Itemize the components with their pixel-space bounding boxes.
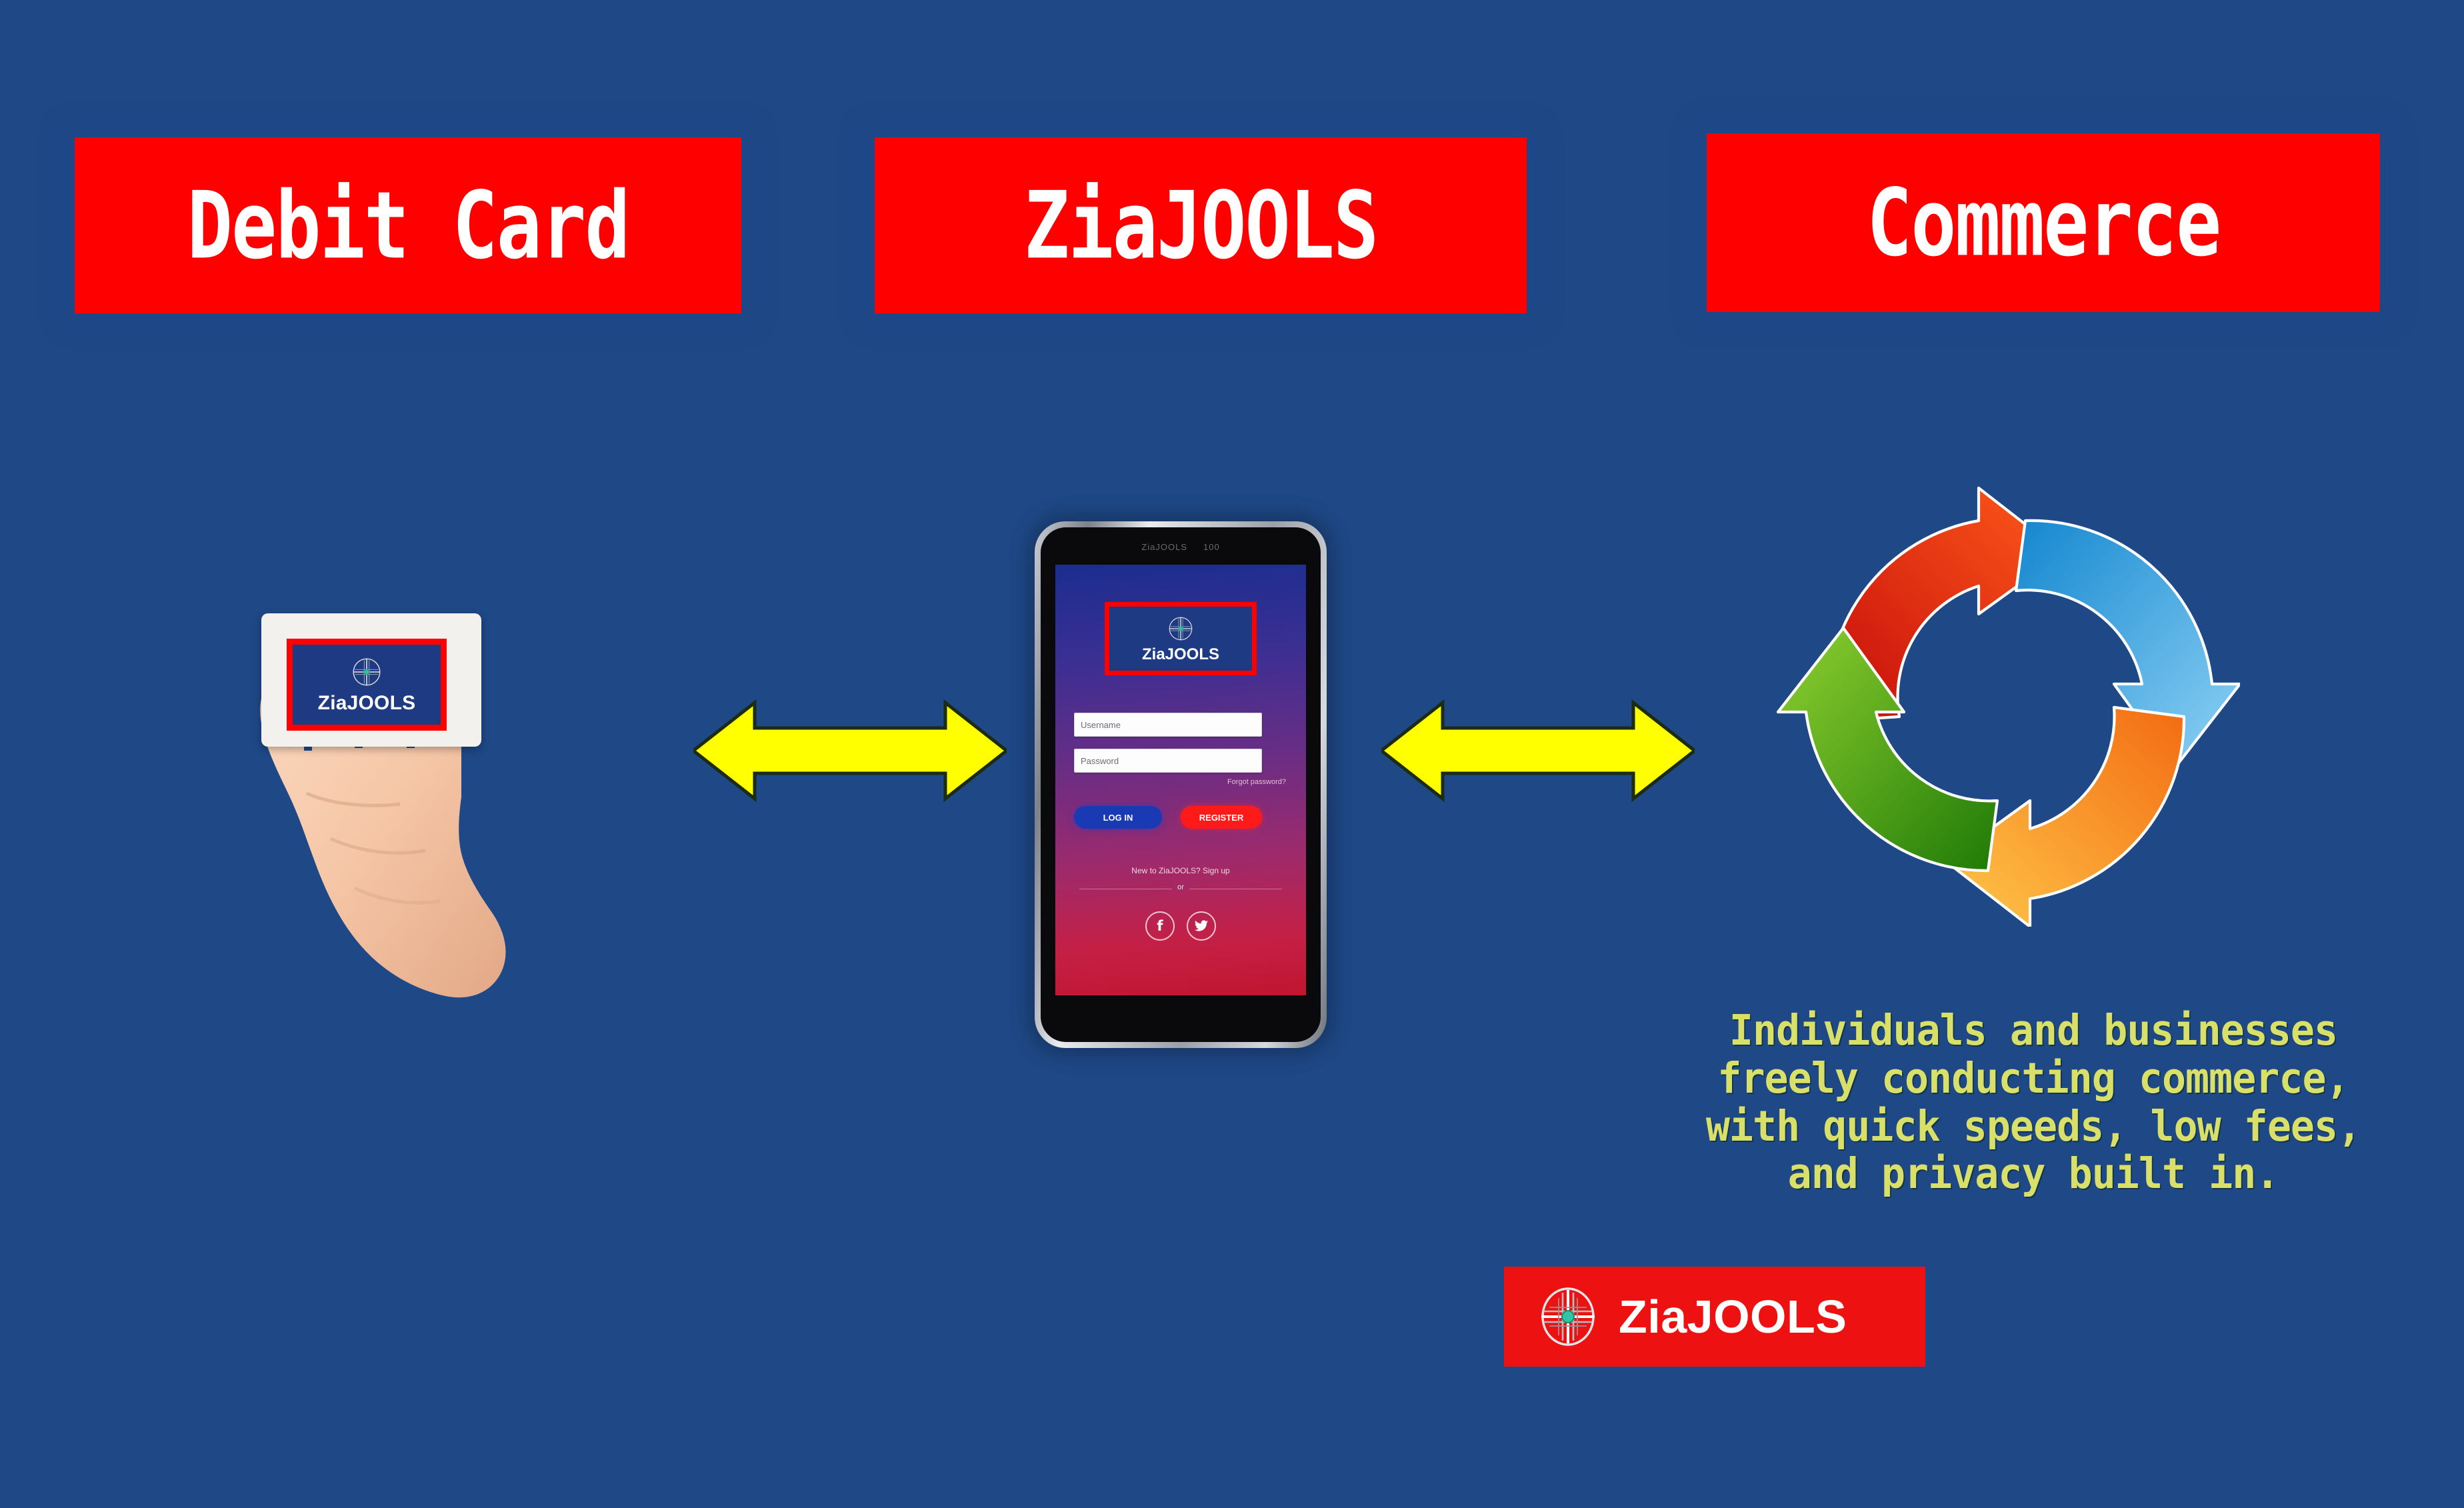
hand-holding-card-illustration: ZiaJOOLS (200, 573, 553, 1013)
banner-ziajools: ZiaJOOLS (875, 137, 1527, 313)
arrow-app-to-commerce (1381, 693, 1695, 808)
banner-debit-card: Debit Card (75, 137, 741, 313)
twitter-bird-glyph (1194, 919, 1209, 933)
commerce-cycle-diagram (1773, 460, 2240, 927)
app-brand-label: ZiaJOOLS (1142, 645, 1219, 664)
smartphone-mockup: ZiaJOOLS 100 (1035, 521, 1327, 1048)
commerce-caption: Individuals and businesses freely conduc… (1680, 1007, 2387, 1198)
arrow-card-to-app (693, 693, 1007, 808)
banner-debit-card-label: Debit Card (187, 179, 629, 271)
password-field-value: Password (1081, 756, 1119, 766)
username-field-value: Username (1081, 720, 1121, 730)
facebook-icon[interactable]: f (1145, 911, 1175, 941)
zia-sun-cross-icon (349, 655, 384, 689)
facebook-glyph: f (1157, 918, 1163, 934)
forgot-password-link[interactable]: Forgot password? (1227, 778, 1286, 786)
status-carrier: ZiaJOOLS (1141, 542, 1187, 552)
log-in-button[interactable]: LOG IN (1074, 806, 1162, 829)
username-field[interactable]: Username (1074, 713, 1262, 737)
app-logo-box: ZiaJOOLS (1105, 602, 1257, 675)
social-login-row: f (1055, 911, 1306, 941)
or-label: or (1172, 883, 1189, 891)
phone-body: ZiaJOOLS 100 (1041, 527, 1321, 1042)
ziajools-brand-badge: ZiaJOOLS (1504, 1267, 1925, 1367)
banner-commerce: Commerce (1707, 133, 2380, 312)
diagram-canvas: Debit Card ZiaJOOLS Commerce (0, 0, 2464, 1508)
banner-commerce-label: Commerce (1867, 176, 2220, 269)
twitter-icon[interactable] (1187, 911, 1216, 941)
banner-ziajools-label: ZiaJOOLS (1024, 179, 1377, 271)
app-login-screen: ZiaJOOLS Username Password Forgot passwo… (1055, 565, 1306, 995)
phone-status-bar: ZiaJOOLS 100 (1041, 537, 1321, 557)
caption-line-4: and privacy built in. (1698, 1150, 2369, 1198)
brand-badge-label: ZiaJOOLS (1619, 1290, 1847, 1343)
debit-card-face: ZiaJOOLS (287, 639, 447, 731)
register-button[interactable]: REGISTER (1181, 806, 1262, 829)
sign-up-prompt[interactable]: New to ZiaJOOLS? Sign up (1055, 866, 1306, 875)
password-field[interactable]: Password (1074, 749, 1262, 773)
status-battery: 100 (1203, 542, 1220, 552)
caption-line-2: freely conducting commerce, (1698, 1055, 2369, 1103)
caption-line-1: Individuals and businesses (1698, 1007, 2369, 1055)
caption-line-3: with quick speeds, low fees, (1698, 1103, 2369, 1151)
zia-sun-cross-icon (1535, 1283, 1601, 1350)
debit-card[interactable]: ZiaJOOLS (261, 613, 481, 747)
zia-sun-cross-icon (1166, 614, 1195, 643)
debit-card-brand-label: ZiaJOOLS (318, 692, 416, 715)
